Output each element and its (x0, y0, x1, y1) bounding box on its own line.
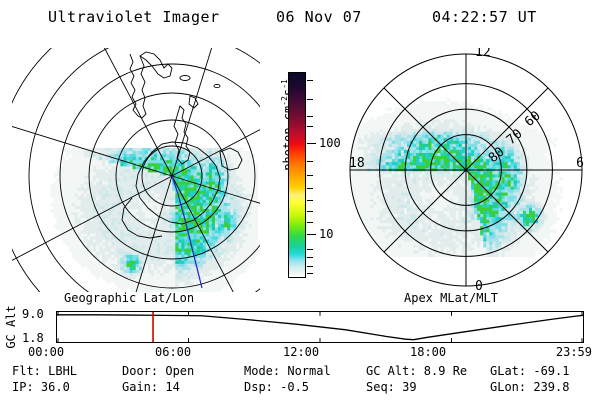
aurora-pixel (154, 191, 157, 194)
aurora-pixel (370, 193, 373, 196)
aurora-pixel (56, 221, 59, 224)
aurora-pixel (93, 176, 96, 179)
colorbar-gradient (289, 73, 305, 277)
aurora-pixel (355, 144, 358, 147)
aurora-pixel (166, 249, 169, 252)
aurora-pixel (401, 211, 404, 214)
aurora-pixel (169, 227, 172, 230)
aurora-pixel (227, 212, 230, 215)
aurora-pixel (93, 233, 96, 236)
aurora-pixel (252, 258, 255, 261)
aurora-pixel (81, 224, 84, 227)
aurora-pixel (230, 249, 233, 252)
aurora-pixel (450, 235, 453, 238)
aurora-pixel (383, 184, 386, 187)
aurora-pixel (239, 148, 242, 151)
aurora-pixel (163, 273, 166, 276)
aurora-pixel (419, 150, 422, 153)
aurora-pixel (145, 246, 148, 249)
aurora-pixel (194, 273, 197, 276)
aurora-pixel (157, 279, 160, 282)
aurora-pixel (386, 193, 389, 196)
aurora-pixel (422, 101, 425, 104)
aurora-pixel (383, 235, 386, 238)
aurora-pixel (422, 235, 425, 238)
aurora-pixel (242, 230, 245, 233)
aurora-pixel (410, 241, 413, 244)
geographic-aurora-data (50, 148, 258, 292)
aurora-pixel (413, 232, 416, 235)
aurora-pixel (197, 291, 200, 292)
aurora-pixel (178, 209, 181, 212)
aurora-pixel (191, 258, 194, 261)
aurora-pixel (246, 176, 249, 179)
aurora-pixel (419, 226, 422, 229)
aurora-pixel (185, 212, 188, 215)
aurora-pixel (477, 150, 480, 153)
aurora-pixel (416, 211, 419, 214)
aurora-pixel (154, 176, 157, 179)
aurora-pixel (392, 235, 395, 238)
aurora-pixel (416, 193, 419, 196)
aurora-pixel (471, 217, 474, 220)
aurora-pixel (218, 288, 221, 291)
aurora-pixel (230, 157, 233, 160)
aurora-pixel (422, 248, 425, 251)
aurora-pixel (377, 193, 380, 196)
aurora-pixel (117, 166, 120, 169)
magnetic-polar-plot[interactable]: 126018607080 (342, 48, 590, 292)
aurora-pixel (373, 129, 376, 132)
aurora-pixel (392, 208, 395, 211)
aurora-pixel (151, 264, 154, 267)
aurora-pixel (75, 200, 78, 203)
aurora-pixel (160, 166, 163, 169)
aurora-pixel (392, 113, 395, 116)
aurora-pixel (386, 116, 389, 119)
aurora-pixel (96, 179, 99, 182)
aurora-pixel (434, 226, 437, 229)
aurora-pixel (441, 135, 444, 138)
aurora-pixel (185, 273, 188, 276)
aurora-pixel (212, 233, 215, 236)
aurora-pixel (407, 229, 410, 232)
aurora-pixel (105, 185, 108, 188)
aurora-pixel (413, 251, 416, 254)
aurora-pixel (169, 212, 172, 215)
aurora-pixel (383, 113, 386, 116)
aurora-pixel (87, 215, 90, 218)
aurora-pixel (154, 166, 157, 169)
aurora-pixel (72, 249, 75, 252)
aurora-pixel (218, 270, 221, 273)
aurora-pixel (154, 267, 157, 270)
aurora-pixel (377, 120, 380, 123)
aurora-pixel (124, 148, 127, 151)
aurora-pixel (96, 246, 99, 249)
aurora-pixel (236, 273, 239, 276)
aurora-pixel (419, 223, 422, 226)
aurora-pixel (78, 227, 81, 230)
aurora-pixel (203, 176, 206, 179)
aurora-pixel (477, 126, 480, 129)
aurora-pixel (133, 176, 136, 179)
aurora-pixel (221, 179, 224, 182)
aurora-pixel (163, 252, 166, 255)
aurora-pixel (377, 138, 380, 141)
aurora-pixel (87, 194, 90, 197)
aurora-pixel (477, 208, 480, 211)
aurora-pixel (416, 223, 419, 226)
aurora-pixel (361, 138, 364, 141)
aurora-pixel (431, 211, 434, 214)
aurora-pixel (117, 185, 120, 188)
aurora-pixel (431, 232, 434, 235)
aurora-pixel (431, 229, 434, 232)
aurora-pixel (419, 120, 422, 123)
aurora-pixel (117, 224, 120, 227)
aurora-pixel (148, 233, 151, 236)
aurora-pixel (395, 184, 398, 187)
aurora-pixel (364, 235, 367, 238)
aurora-pixel (358, 193, 361, 196)
aurora-pixel (242, 255, 245, 258)
aurora-pixel (358, 199, 361, 202)
aurora-pixel (468, 190, 471, 193)
aurora-pixel (224, 267, 227, 270)
aurora-pixel (114, 200, 117, 203)
aurora-pixel (163, 221, 166, 224)
aurora-pixel (136, 246, 139, 249)
aurora-pixel (172, 243, 175, 246)
aurora-pixel (252, 218, 255, 221)
aurora-pixel (459, 211, 462, 214)
aurora-pixel (185, 276, 188, 279)
aurora-pixel (236, 172, 239, 175)
aurora-pixel (209, 273, 212, 276)
aurora-pixel (63, 221, 66, 224)
aurora-pixel (154, 172, 157, 175)
aurora-pixel (56, 197, 59, 200)
aurora-pixel (200, 240, 203, 243)
aurora-pixel (169, 267, 172, 270)
aurora-pixel (447, 193, 450, 196)
aurora-pixel (120, 258, 123, 261)
aurora-pixel (456, 171, 459, 174)
aurora-pixel (453, 171, 456, 174)
aurora-pixel (249, 154, 252, 157)
aurora-pixel (181, 236, 184, 239)
aurora-pixel (413, 214, 416, 217)
aurora-pixel (459, 120, 462, 123)
aurora-pixel (419, 159, 422, 162)
aurora-pixel (386, 144, 389, 147)
aurora-pixel (215, 157, 218, 160)
aurora-pixel (398, 251, 401, 254)
aurora-pixel (114, 261, 117, 264)
aurora-pixel (447, 248, 450, 251)
aurora-pixel (233, 255, 236, 258)
aurora-pixel (84, 230, 87, 233)
aurora-pixel (78, 154, 81, 157)
aurora-pixel (108, 179, 111, 182)
aurora-pixel (431, 101, 434, 104)
aurora-pixel (130, 267, 133, 270)
aurora-pixel (99, 169, 102, 172)
aurora-pixel (206, 233, 209, 236)
aurora-pixel (209, 288, 212, 291)
aurora-pixel (367, 156, 370, 159)
aurora-pixel (380, 217, 383, 220)
aurora-pixel (78, 191, 81, 194)
aurora-pixel (438, 208, 441, 211)
aurora-pixel (130, 233, 133, 236)
geographic-polar-plot[interactable] (12, 48, 260, 292)
aurora-pixel (218, 236, 221, 239)
aurora-pixel (160, 249, 163, 252)
aurora-pixel (178, 270, 181, 273)
aurora-pixel (249, 169, 252, 172)
aurora-pixel (419, 113, 422, 116)
aurora-pixel (364, 205, 367, 208)
aurora-pixel (450, 113, 453, 116)
aurora-pixel (99, 252, 102, 255)
aurora-pixel (75, 194, 78, 197)
aurora-pixel (233, 258, 236, 261)
aurora-pixel (380, 235, 383, 238)
aurora-pixel (410, 187, 413, 190)
observation-date: 06 Nov 07 (276, 8, 362, 28)
aurora-pixel (66, 172, 69, 175)
aurora-pixel (480, 211, 483, 214)
aurora-pixel (230, 203, 233, 206)
aurora-pixel (139, 249, 142, 252)
aurora-pixel (246, 203, 249, 206)
aurora-pixel (108, 166, 111, 169)
aurora-pixel (114, 264, 117, 267)
aurora-pixel (163, 169, 166, 172)
aurora-pixel (373, 205, 376, 208)
aurora-pixel (81, 188, 84, 191)
aurora-pixel (102, 151, 105, 154)
aurora-pixel (410, 238, 413, 241)
aurora-pixel (401, 165, 404, 168)
aurora-pixel (63, 197, 66, 200)
aurora-pixel (477, 214, 480, 217)
aurora-pixel (142, 273, 145, 276)
aurora-pixel (477, 165, 480, 168)
aurora-pixel (185, 252, 188, 255)
aurora-pixel (78, 252, 81, 255)
aurora-pixel (252, 224, 255, 227)
aurora-pixel (172, 273, 175, 276)
aurora-pixel (462, 156, 465, 159)
aurora-pixel (373, 202, 376, 205)
aurora-pixel (188, 270, 191, 273)
aurora-pixel (203, 191, 206, 194)
aurora-pixel (175, 200, 178, 203)
aurora-pixel (133, 267, 136, 270)
aurora-pixel (102, 252, 105, 255)
aurora-pixel (206, 264, 209, 267)
aurora-pixel (444, 126, 447, 129)
aurora-pixel (416, 138, 419, 141)
aurora-pixel (69, 203, 72, 206)
aurora-pixel (197, 179, 200, 182)
aurora-pixel (93, 261, 96, 264)
aurora-pixel (78, 151, 81, 154)
aurora-pixel (66, 221, 69, 224)
aurora-pixel (380, 205, 383, 208)
aurora-pixel (377, 205, 380, 208)
aurora-pixel (438, 104, 441, 107)
aurora-pixel (191, 279, 194, 282)
aurora-pixel (139, 188, 142, 191)
aurora-pixel (200, 154, 203, 157)
aurora-pixel (419, 144, 422, 147)
aurora-pixel (230, 172, 233, 175)
aurora-pixel (139, 240, 142, 243)
aurora-pixel (56, 203, 59, 206)
aurora-pixel (434, 144, 437, 147)
aurora-pixel (111, 148, 114, 151)
aurora-pixel (447, 129, 450, 132)
aurora-pixel (413, 156, 416, 159)
aurora-pixel (383, 177, 386, 180)
aurora-pixel (166, 215, 169, 218)
aurora-pixel (154, 249, 157, 252)
aurora-pixel (364, 180, 367, 183)
aurora-pixel (175, 236, 178, 239)
aurora-pixel (383, 214, 386, 217)
aurora-pixel (395, 190, 398, 193)
aurora-pixel (206, 160, 209, 163)
aurora-pixel (468, 235, 471, 238)
aurora-pixel (209, 230, 212, 233)
aurora-pixel (404, 202, 407, 205)
aurora-pixel (459, 223, 462, 226)
aurora-pixel (398, 241, 401, 244)
aurora-pixel (66, 200, 69, 203)
aurora-pixel (364, 156, 367, 159)
aurora-pixel (151, 218, 154, 221)
aurora-pixel (471, 171, 474, 174)
aurora-pixel (444, 229, 447, 232)
aurora-pixel (69, 212, 72, 215)
aurora-pixel (221, 258, 224, 261)
aurora-pixel (66, 169, 69, 172)
aurora-pixel (410, 159, 413, 162)
aurora-pixel (373, 220, 376, 223)
aurora-pixel (90, 172, 93, 175)
aurora-pixel (111, 188, 114, 191)
aurora-pixel (242, 160, 245, 163)
aurora-pixel (75, 182, 78, 185)
aurora-pixel (130, 185, 133, 188)
aurora-pixel (428, 254, 431, 257)
aurora-pixel (206, 270, 209, 273)
aurora-pixel (410, 232, 413, 235)
aurora-pixel (127, 191, 130, 194)
aurora-pixel (212, 227, 215, 230)
aurora-pixel (102, 185, 105, 188)
aurora-pixel (233, 191, 236, 194)
aurora-pixel (108, 249, 111, 252)
aurora-pixel (111, 194, 114, 197)
aurora-pixel (191, 270, 194, 273)
aurora-pixel (246, 200, 249, 203)
aurora-pixel (434, 135, 437, 138)
aurora-pixel (145, 267, 148, 270)
aurora-pixel (163, 176, 166, 179)
aurora-pixel (53, 182, 56, 185)
aurora-pixel (401, 156, 404, 159)
aurora-pixel (459, 153, 462, 156)
aurora-pixel (468, 177, 471, 180)
aurora-pixel (413, 126, 416, 129)
aurora-pixel (230, 246, 233, 249)
aurora-pixel (404, 205, 407, 208)
aurora-pixel (447, 238, 450, 241)
aurora-pixel (434, 177, 437, 180)
aurora-pixel (194, 212, 197, 215)
aurora-pixel (139, 243, 142, 246)
aurora-pixel (438, 184, 441, 187)
aurora-pixel (249, 209, 252, 212)
aurora-pixel (398, 205, 401, 208)
colorbar-minor-tick (307, 257, 313, 258)
aurora-pixel (151, 249, 154, 252)
aurora-pixel (450, 150, 453, 153)
aurora-pixel (81, 212, 84, 215)
aurora-pixel (416, 202, 419, 205)
aurora-pixel (434, 159, 437, 162)
aurora-pixel (444, 193, 447, 196)
aurora-pixel (431, 107, 434, 110)
aurora-pixel (72, 252, 75, 255)
aurora-pixel (209, 206, 212, 209)
aurora-pixel (459, 180, 462, 183)
colorbar-minor-tick (307, 266, 313, 267)
aurora-pixel (117, 264, 120, 267)
aurora-pixel (422, 110, 425, 113)
aurora-pixel (111, 209, 114, 212)
aurora-pixel (453, 238, 456, 241)
aurora-pixel (416, 159, 419, 162)
aurora-pixel (346, 144, 349, 147)
aurora-pixel (453, 150, 456, 153)
aurora-pixel (157, 176, 160, 179)
aurora-pixel (419, 138, 422, 141)
aurora-pixel (157, 160, 160, 163)
aurora-pixel (84, 200, 87, 203)
aurora-pixel (197, 154, 200, 157)
aurora-pixel (105, 188, 108, 191)
aurora-pixel (450, 101, 453, 104)
aurora-pixel (480, 174, 483, 177)
aurora-pixel (90, 206, 93, 209)
aurora-pixel (151, 261, 154, 264)
aurora-pixel (172, 212, 175, 215)
aurora-pixel (185, 282, 188, 285)
aurora-pixel (200, 264, 203, 267)
aurora-pixel (66, 243, 69, 246)
aurora-pixel (465, 116, 468, 119)
aurora-pixel (450, 129, 453, 132)
aurora-pixel (395, 156, 398, 159)
aurora-pixel (111, 166, 114, 169)
aurora-pixel (96, 200, 99, 203)
